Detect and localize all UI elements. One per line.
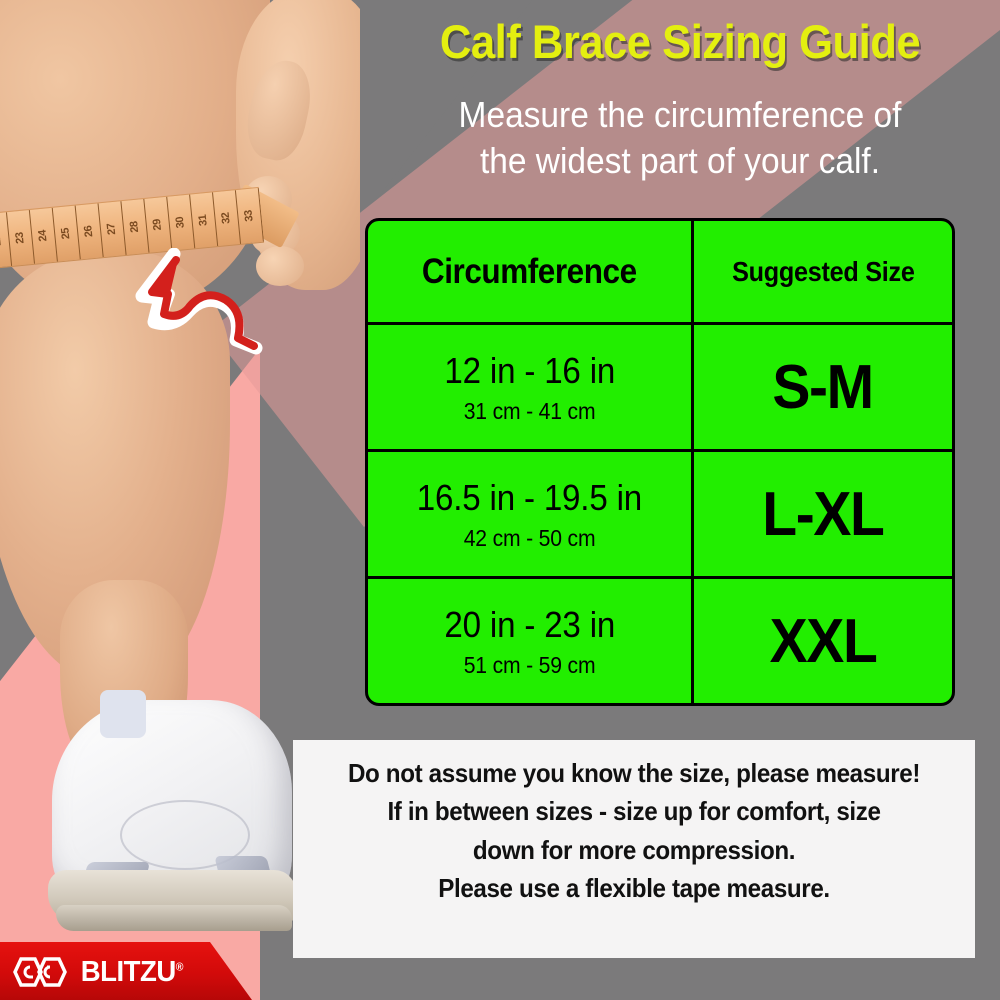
- column-header-suggested-size: Suggested Size: [732, 256, 914, 288]
- tape-tick-label: 28: [128, 221, 141, 233]
- tape-tick-label: 26: [83, 225, 96, 237]
- instructions-panel: Do not assume you know the size, please …: [293, 740, 975, 958]
- sizing-table: Circumference Suggested Size 12 in - 16 …: [365, 218, 955, 706]
- circumference-cm: 31 cm - 41 cm: [464, 398, 596, 425]
- tape-tick-label: 32: [220, 212, 233, 224]
- circumference-inches: 20 in - 23 in: [444, 604, 615, 646]
- sneaker-heel-tab: [100, 690, 146, 738]
- circumference-inches: 16.5 in - 19.5 in: [417, 477, 642, 519]
- tape-tick-label: 31: [197, 214, 210, 226]
- infographic-canvas: 222324252627282930313233 Calf Brace Sizi…: [0, 0, 1000, 1000]
- brand-name: BLITZU®: [81, 956, 183, 989]
- page-title: Calf Brace Sizing Guide: [401, 18, 959, 66]
- page-subtitle: Measure the circumference of the widest …: [401, 92, 959, 184]
- circumference-inches: 12 in - 16 in: [444, 350, 615, 392]
- red-arrow-icon: [130, 248, 290, 358]
- registered-trademark-icon: ®: [176, 961, 183, 973]
- tape-tick-label: 22: [0, 234, 4, 246]
- instruction-line-3: down for more compression.: [330, 833, 938, 867]
- tape-tick-label: 24: [37, 230, 50, 242]
- column-header-circumference: Circumference: [422, 252, 637, 292]
- brand-name-text: BLITZU: [81, 956, 176, 988]
- cell-circumference: 12 in - 16 in 31 cm - 41 cm: [368, 325, 694, 449]
- instruction-line-1: Do not assume you know the size, please …: [330, 756, 938, 790]
- suggested-size-value: L-XL: [762, 479, 883, 550]
- cell-circumference: 16.5 in - 19.5 in 42 cm - 50 cm: [368, 452, 694, 576]
- cell-circumference: 20 in - 23 in 51 cm - 59 cm: [368, 579, 694, 703]
- cell-size: XXL: [694, 579, 952, 703]
- tape-tick-label: 25: [60, 227, 73, 239]
- tape-tick-label: 23: [14, 232, 27, 244]
- tape-tick-label: 29: [151, 219, 164, 231]
- subtitle-line-1: Measure the circumference of: [401, 92, 959, 138]
- table-row: 20 in - 23 in 51 cm - 59 cm XXL: [368, 579, 952, 703]
- tape-tick-label: 33: [243, 210, 256, 222]
- tape-tick-label: 27: [106, 223, 119, 235]
- cell-size: S-M: [694, 325, 952, 449]
- suggested-size-value: S-M: [773, 352, 873, 423]
- measurement-arrow: [130, 248, 290, 358]
- instruction-line-2: If in between sizes - size up for comfor…: [330, 794, 938, 828]
- circumference-cm: 51 cm - 59 cm: [464, 652, 596, 679]
- table-row: 16.5 in - 19.5 in 42 cm - 50 cm L-XL: [368, 452, 952, 579]
- blitzu-monogram-icon: [12, 955, 68, 989]
- circumference-cm: 42 cm - 50 cm: [464, 525, 596, 552]
- suggested-size-value: XXL: [770, 606, 877, 677]
- cell-size: L-XL: [694, 452, 952, 576]
- tape-tick-label: 30: [174, 216, 187, 228]
- brand-logo: BLITZU®: [12, 952, 186, 992]
- instruction-line-4: Please use a flexible tape measure.: [330, 871, 938, 905]
- header-cell-circumference: Circumference: [368, 221, 694, 322]
- sneaker-outsole: [56, 905, 292, 931]
- subtitle-line-2: the widest part of your calf.: [401, 138, 959, 184]
- table-row: 12 in - 16 in 31 cm - 41 cm S-M: [368, 325, 952, 452]
- header-cell-suggested-size: Suggested Size: [694, 221, 952, 322]
- table-header-row: Circumference Suggested Size: [368, 221, 952, 325]
